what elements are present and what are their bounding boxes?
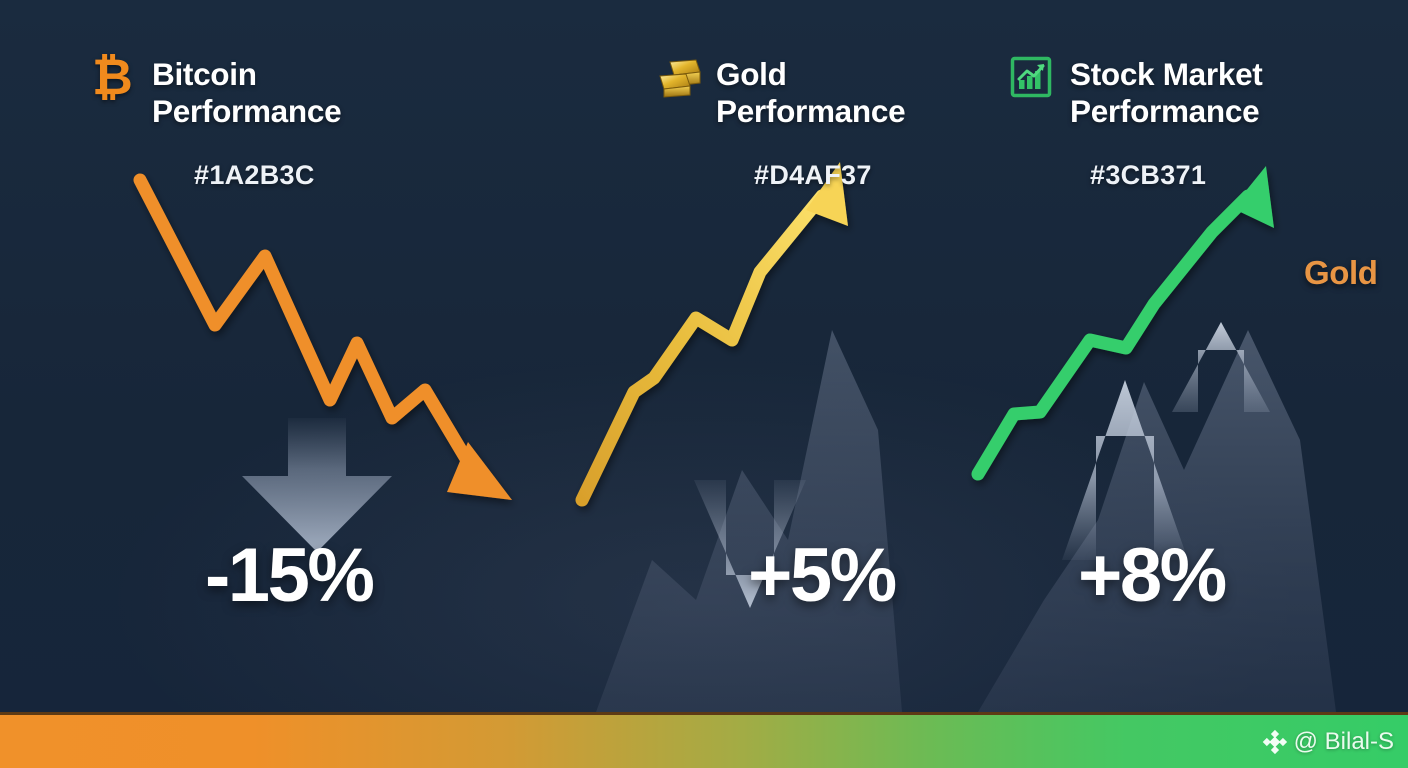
up-arrow-decoration-small bbox=[1172, 322, 1270, 412]
value-bitcoin: -15% bbox=[205, 532, 372, 619]
header-bitcoin: ₿ Bitcoin Performance bbox=[92, 56, 341, 130]
gold-trend-line bbox=[582, 162, 848, 500]
bitcoin-logo-icon: ₿ bbox=[92, 56, 138, 106]
hexcode-gold: #D4AF37 bbox=[754, 160, 872, 191]
panel-title-stock: Stock Market Performance bbox=[1070, 56, 1262, 130]
value-gold: +5% bbox=[748, 532, 895, 619]
watermark: @ Bilal-S bbox=[1261, 728, 1394, 756]
value-stock: +8% bbox=[1078, 532, 1225, 619]
panel-bitcoin: ₿ Bitcoin Performance #1A2B3C -15% bbox=[0, 0, 556, 712]
hexcode-stock: #3CB371 bbox=[1090, 160, 1206, 191]
stock-trend-line bbox=[978, 166, 1274, 474]
header-stock: Stock Market Performance bbox=[1010, 56, 1262, 130]
panel-title-bitcoin: Bitcoin Performance bbox=[152, 56, 341, 130]
bitcoin-trend-line bbox=[140, 180, 512, 500]
header-gold: Gold Performance bbox=[656, 56, 905, 130]
infographic-canvas: ₿ Bitcoin Performance #1A2B3C -15% bbox=[0, 0, 1408, 768]
mountain-decoration bbox=[978, 330, 1336, 712]
footer-gradient-bar: @ Bilal-S bbox=[0, 712, 1408, 768]
mountain-decoration bbox=[596, 330, 902, 712]
binance-diamond-icon bbox=[1261, 729, 1287, 755]
gold-bars-icon bbox=[656, 56, 702, 106]
stock-chart-icon bbox=[1010, 56, 1056, 106]
hexcode-bitcoin: #1A2B3C bbox=[194, 160, 315, 191]
watermark-handle: @ Bilal-S bbox=[1294, 728, 1394, 756]
panel-title-gold: Gold Performance bbox=[716, 56, 905, 130]
